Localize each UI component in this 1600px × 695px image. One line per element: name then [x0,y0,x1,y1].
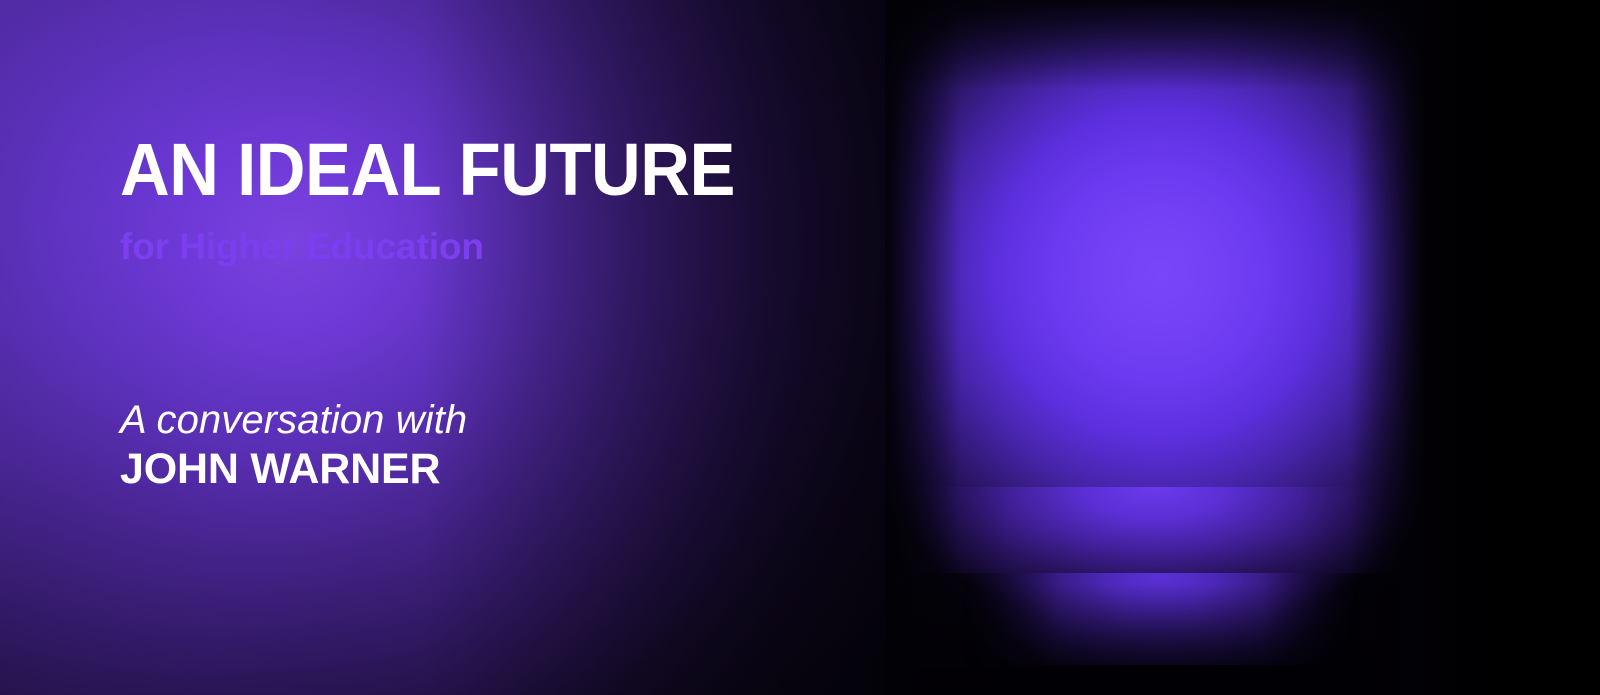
conversation-kicker: A conversation with [120,396,467,444]
right-edge-blackout [1400,0,1600,695]
promo-banner: AN IDEAL FUTURE for Higher Education A c… [0,0,1600,695]
page-subtitle: for Higher Education [120,222,484,272]
stage-vignette [885,0,1425,695]
page-title: AN IDEAL FUTURE [120,132,735,208]
speaker-name: JOHN WARNER [120,445,440,493]
glow-stage [885,0,1425,695]
text-block: AN IDEAL FUTURE for Higher Education A c… [120,0,880,695]
